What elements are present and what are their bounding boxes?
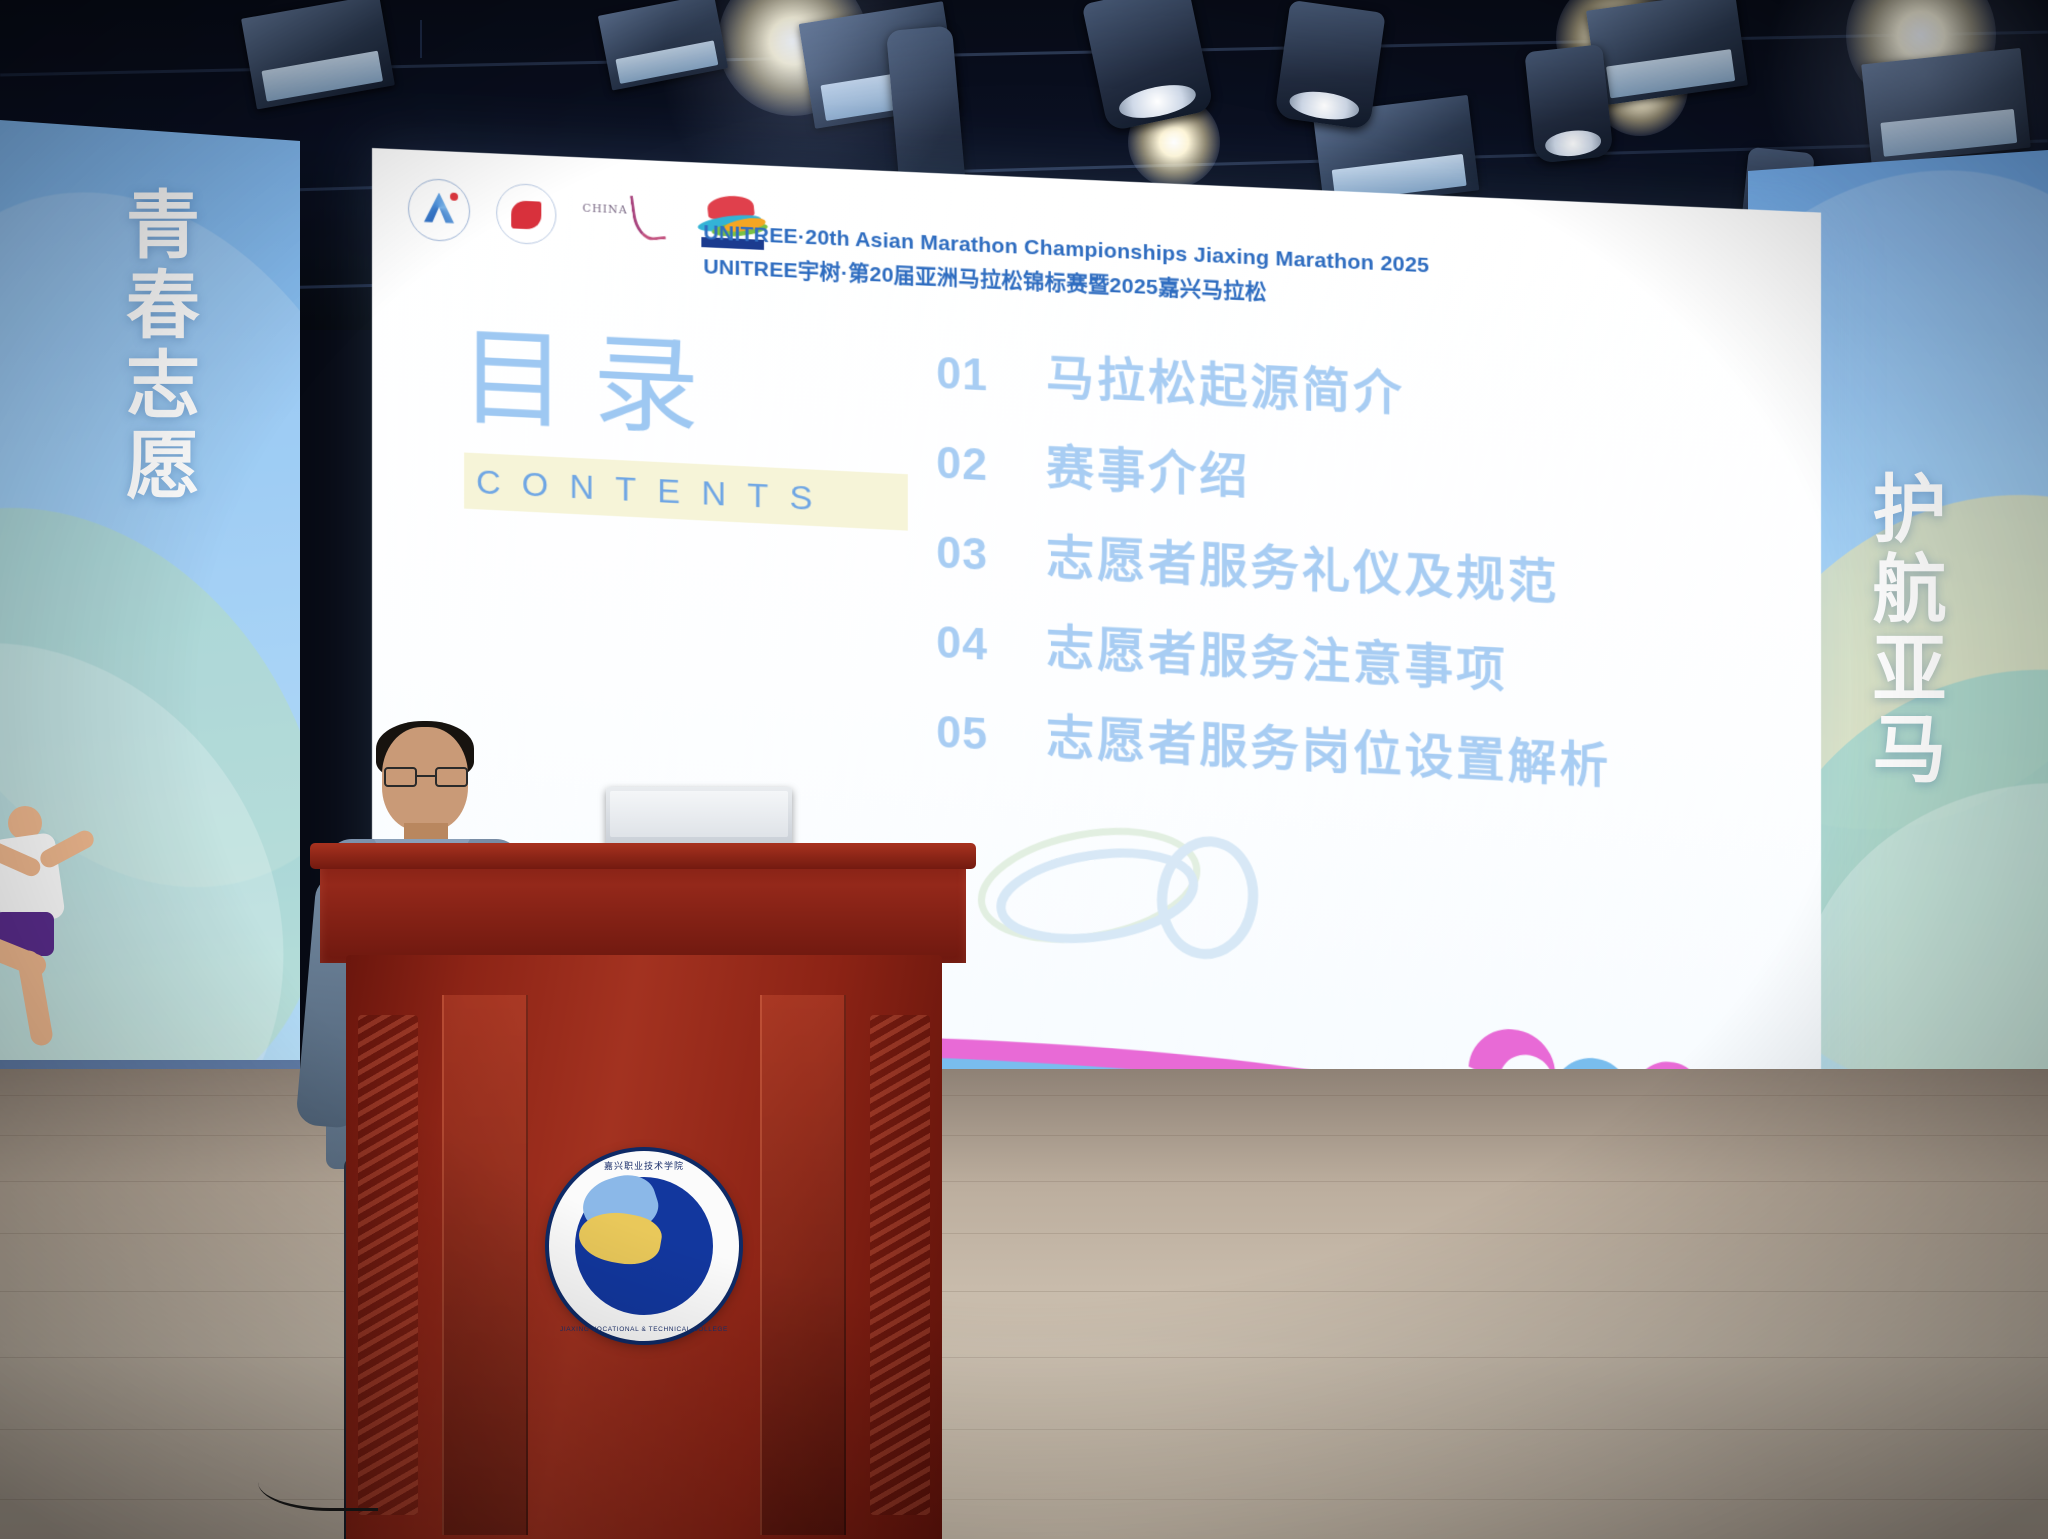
toc-number: 02 xyxy=(936,438,1011,492)
table-of-contents: 01 马拉松起源简介 02 赛事介绍 03 志愿者服务礼仪及规范 04 志愿者服… xyxy=(936,332,1611,817)
toc-label: 志愿者服务注意事项 xyxy=(1046,607,1508,701)
stage-scene: 青春志愿 护航亚马 CHINA xyxy=(0,0,2048,1539)
wing-right-slogan: 护航亚马 xyxy=(1865,470,1940,1030)
asian-athletics-association-logo xyxy=(408,178,470,243)
podium-carving-left xyxy=(358,1015,418,1515)
runner-illustration-left xyxy=(0,800,190,1060)
moving-head-light xyxy=(1274,0,1385,130)
toc-item[interactable]: 02 赛事介绍 xyxy=(936,422,1611,525)
toc-item[interactable]: 05 志愿者服务岗位设置解析 xyxy=(936,691,1611,796)
toc-number: 04 xyxy=(936,618,1011,672)
toc-item[interactable]: 04 志愿者服务注意事项 xyxy=(936,602,1611,706)
moving-head-light xyxy=(1524,44,1613,164)
emblem-name-cn: 嘉兴职业技术学院 xyxy=(549,1159,739,1172)
toc-number: 01 xyxy=(936,349,1011,403)
podium-carving-right xyxy=(870,1015,930,1515)
toc-label: 志愿者服务岗位设置解析 xyxy=(1046,697,1611,797)
toc-label: 马拉松起源简介 xyxy=(1046,338,1405,425)
par-can-fixture xyxy=(1586,0,1748,106)
slide-header-text: UNITREE·20th Asian Marathon Championship… xyxy=(703,221,1429,314)
glasses-icon xyxy=(384,767,468,787)
podium-lip xyxy=(310,843,976,869)
toc-label: 志愿者服务礼仪及规范 xyxy=(1046,517,1559,613)
podium-panel-right xyxy=(760,995,846,1535)
toc-label: 赛事介绍 xyxy=(1046,427,1250,507)
wing-left-slogan: 青春志愿 xyxy=(118,186,193,806)
emblem-name-en: JIAXING VOCATIONAL & TECHNICAL COLLEGE xyxy=(549,1326,739,1333)
college-emblem: 嘉兴职业技术学院 JIAXING VOCATIONAL & TECHNICAL … xyxy=(549,1151,739,1341)
laptop[interactable] xyxy=(606,787,792,851)
china-athletics-logo: CHINA xyxy=(583,187,668,249)
toc-number: 03 xyxy=(936,528,1011,582)
podium: 嘉兴职业技术学院 JIAXING VOCATIONAL & TECHNICAL … xyxy=(320,843,960,1539)
podium-panel-left xyxy=(442,995,528,1535)
toc-item[interactable]: 01 马拉松起源简介 xyxy=(936,332,1611,434)
moving-head-light xyxy=(1082,0,1215,132)
podium-body: 嘉兴职业技术学院 JIAXING VOCATIONAL & TECHNICAL … xyxy=(346,955,942,1539)
chinese-athletics-association-logo xyxy=(496,183,556,246)
toc-number: 05 xyxy=(936,707,1011,761)
par-can-fixture xyxy=(241,0,395,109)
slide-title-cn: 目录 xyxy=(460,324,726,443)
toc-item[interactable]: 03 志愿者服务礼仪及规范 xyxy=(936,512,1611,616)
